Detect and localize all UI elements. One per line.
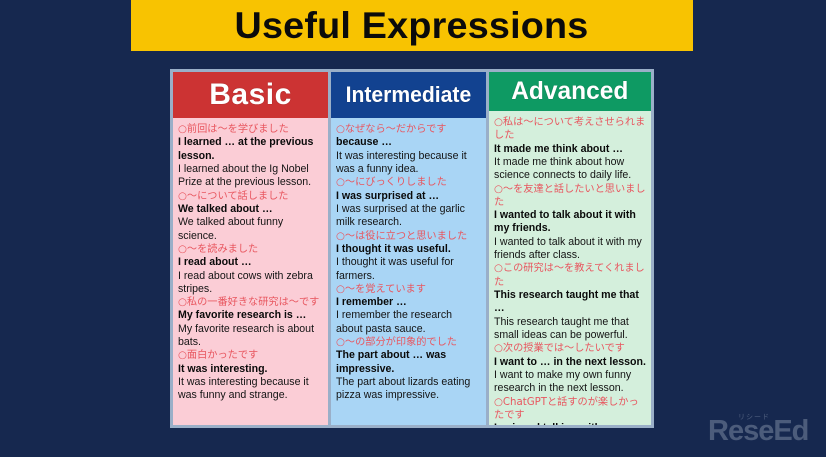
entry-example: We talked about funny science. [178,216,323,243]
entry-pattern: I was surprised at … [336,190,481,203]
entry-japanese: ○前回は〜を学びました [178,123,323,136]
entry-example: My favorite research is about bats. [178,323,323,350]
entry-example: I was surprised at the garlic milk resea… [336,203,481,230]
entry-example: I want to make my own funny research in … [494,369,646,396]
entry-pattern: It made me think about … [494,143,646,156]
entry-japanese: ○この研究は〜を教えてくれました [494,262,646,289]
expression-entry: ○〜の部分が印象的でした The part about … was impres… [336,336,481,403]
column-header-basic[interactable]: Basic [173,72,328,118]
entry-japanese: ○〜について話しました [178,190,323,203]
column-body-intermediate: ○なぜなら〜だからです because … It was interesting… [331,118,486,425]
entry-japanese: ○ChatGPTと話すのが楽しかったです [494,396,646,423]
entry-pattern: It was interesting. [178,363,323,376]
column-header-advanced-label: Advanced [511,79,628,104]
expression-entry: ○ChatGPTと話すのが楽しかったです I enjoyed talking w… [494,396,646,425]
entry-example: I wanted to talk about it with my friend… [494,236,646,263]
entry-pattern: We talked about … [178,203,323,216]
entry-japanese: ○次の授業では〜したいです [494,342,646,355]
expressions-table: Basic ○前回は〜を学びました I learned … at the pre… [170,69,654,428]
entry-example: I remember the research about pasta sauc… [336,309,481,336]
expression-entry: ○私は〜について考えさせられました It made me think about… [494,116,646,183]
entry-example: The part about lizards eating pizza was … [336,376,481,403]
expression-entry: ○〜を友達と話したいと思いました I wanted to talk about … [494,183,646,263]
entry-example: It was interesting because it was a funn… [336,150,481,177]
entry-pattern: because … [336,136,481,149]
entry-pattern: My favorite research is … [178,309,323,322]
expression-entry: ○〜について話しました We talked about … We talked … [178,190,323,243]
expression-entry: ○〜を読みました I read about … I read about cow… [178,243,323,296]
expression-entry: ○この研究は〜を教えてくれました This research taught me… [494,262,646,342]
entry-pattern: I learned … at the previous lesson. [178,136,323,163]
entry-example: It made me think about how science conne… [494,156,646,183]
entry-pattern: I remember … [336,296,481,309]
entry-example: I read about cows with zebra stripes. [178,270,323,297]
slide-canvas: Useful Expressions Basic ○前回は〜を学びました I l… [0,0,826,457]
column-header-intermediate[interactable]: Intermediate [331,72,486,118]
watermark-logo: リシード ReseEd [708,411,812,451]
expression-entry: ○次の授業では〜したいです I want to … in the next le… [494,342,646,395]
column-header-intermediate-label: Intermediate [346,84,472,106]
table-column-advanced: Advanced ○私は〜について考えさせられました It made me th… [489,72,651,425]
entry-japanese: ○〜は役に立つと思いました [336,230,481,243]
entry-japanese: ○〜を覚えています [336,283,481,296]
expression-entry: ○なぜなら〜だからです because … It was interesting… [336,123,481,176]
entry-pattern: I want to … in the next lesson. [494,356,646,369]
entry-japanese: ○〜を読みました [178,243,323,256]
entry-japanese: ○面白かったです [178,349,323,362]
title-banner: Useful Expressions [131,0,693,51]
expression-entry: ○私の一番好きな研究は〜です My favorite research is …… [178,296,323,349]
table-column-intermediate: Intermediate ○なぜなら〜だからです because … It wa… [331,72,486,425]
watermark-text: ReseEd [708,417,808,446]
entry-japanese: ○〜の部分が印象的でした [336,336,481,349]
expression-entry: ○〜を覚えています I remember … I remember the re… [336,283,481,336]
entry-japanese: ○〜を友達と話したいと思いました [494,183,646,210]
entry-pattern: This research taught me that … [494,289,646,316]
expression-entry: ○前回は〜を学びました I learned … at the previous … [178,123,323,190]
entry-pattern: I thought it was useful. [336,243,481,256]
column-body-basic: ○前回は〜を学びました I learned … at the previous … [173,118,328,425]
watermark-kana: リシード [738,412,770,422]
expression-entry: ○面白かったです It was interesting. It was inte… [178,349,323,402]
entry-example: I thought it was useful for farmers. [336,256,481,283]
entry-pattern: The part about … was impressive. [336,349,481,376]
column-header-advanced[interactable]: Advanced [489,72,651,111]
entry-pattern: I enjoyed talking with ChatGPT. [494,422,646,425]
entry-example: I learned about the Ig Nobel Prize at th… [178,163,323,190]
column-body-advanced: ○私は〜について考えさせられました It made me think about… [489,111,651,425]
entry-japanese: ○私は〜について考えさせられました [494,116,646,143]
expression-entry: ○〜は役に立つと思いました I thought it was useful. I… [336,230,481,283]
entry-example: This research taught me that small ideas… [494,316,646,343]
entry-pattern: I read about … [178,256,323,269]
entry-pattern: I wanted to talk about it with my friend… [494,209,646,236]
entry-japanese: ○なぜなら〜だからです [336,123,481,136]
table-column-basic: Basic ○前回は〜を学びました I learned … at the pre… [173,72,328,425]
page-title: Useful Expressions [235,7,589,44]
entry-example: It was interesting because it was funny … [178,376,323,403]
entry-japanese: ○〜にびっくりしました [336,176,481,189]
column-header-basic-label: Basic [209,80,292,110]
expression-entry: ○〜にびっくりしました I was surprised at … I was s… [336,176,481,229]
entry-japanese: ○私の一番好きな研究は〜です [178,296,323,309]
